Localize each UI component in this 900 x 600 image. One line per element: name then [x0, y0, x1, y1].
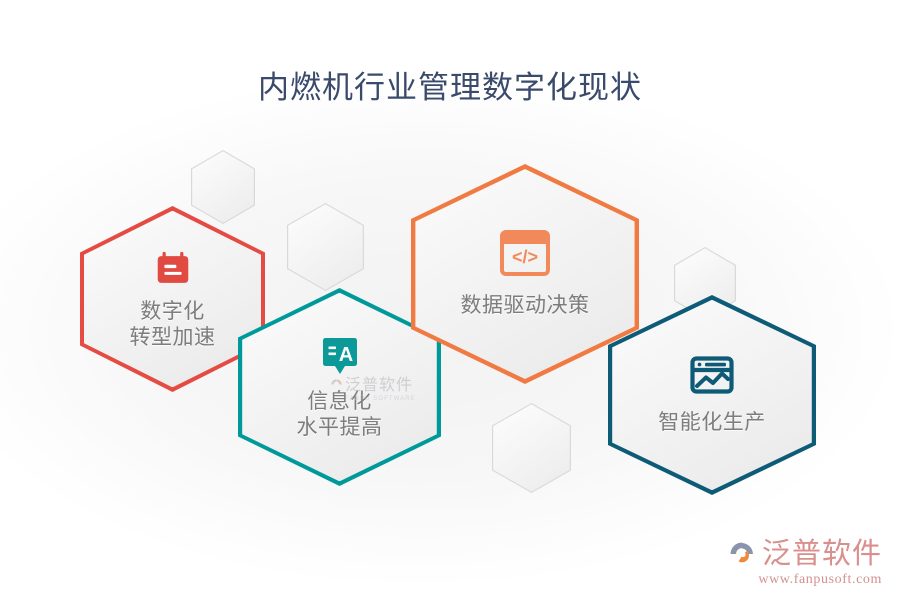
decorative-hexagon-shape — [492, 403, 571, 493]
brand-logo: 泛普软件 www.fanpusoft.com — [727, 539, 882, 588]
hexagon-content: 智能化生产 — [608, 295, 816, 495]
hexagon-label: 数据驱动决策 — [461, 293, 590, 319]
page-title: 内燃机行业管理数字化现状 — [0, 62, 900, 107]
hexagon-label: 信息化 水平提高 — [297, 389, 383, 440]
decorative-hexagon-face — [493, 404, 570, 492]
calendar-card-icon — [152, 248, 194, 290]
decorative-hexagon-2 — [287, 203, 364, 291]
decorative-hexagon-shape — [287, 203, 364, 291]
translate-icon: A — [318, 334, 362, 380]
hexagon-card-intelligent-production[interactable]: 智能化生产 — [608, 295, 816, 495]
brand-mark-icon — [727, 539, 757, 569]
brand-row: 泛普软件 — [727, 539, 882, 569]
code-window-icon: </> — [497, 229, 553, 279]
brand-name: 泛普软件 — [762, 540, 882, 569]
svg-text:A: A — [338, 344, 352, 366]
chart-window-icon — [688, 354, 736, 398]
decorative-hexagon-3 — [492, 403, 571, 493]
hexagon-content: </> 数据驱动决策 — [411, 164, 639, 384]
svg-text:</>: </> — [512, 247, 538, 267]
decorative-hexagon-face — [288, 204, 363, 290]
hexagon-card-data-driven-decision[interactable]: </> 数据驱动决策 — [411, 164, 639, 384]
brand-url: www.fanpusoft.com — [758, 572, 882, 588]
infographic-canvas: 内燃机行业管理数字化现状 — [0, 0, 900, 600]
hexagon-label: 智能化生产 — [658, 410, 766, 436]
hexagon-label: 数字化 转型加速 — [130, 299, 216, 350]
